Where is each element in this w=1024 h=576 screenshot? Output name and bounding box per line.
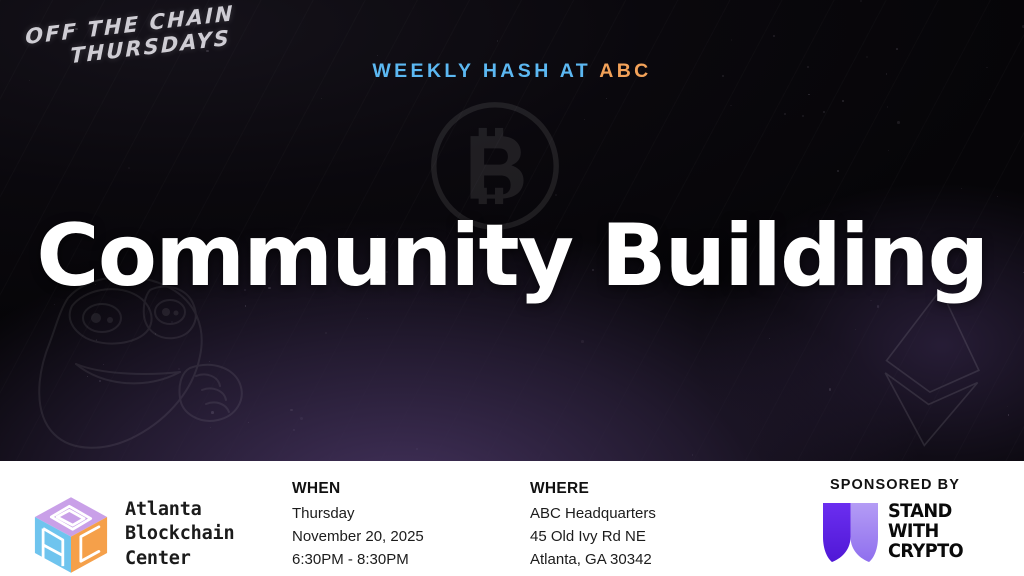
footer-bar: Atlanta Blockchain Center WHEN Thursday …	[0, 461, 1024, 576]
when-heading: WHEN	[292, 480, 424, 498]
sponsor-name: STAND WITH CRYPTO	[888, 502, 963, 561]
series-eyebrow: WEEKLY HASH AT ABC	[0, 60, 1024, 83]
when-block: WHEN Thursday November 20, 2025 6:30PM -…	[292, 480, 424, 576]
brand-name: Atlanta Blockchain Center	[125, 498, 234, 570]
where-block: WHERE ABC Headquarters 45 Old Ivy Rd NE …	[530, 480, 656, 576]
sponsor-name-line-2: WITH	[888, 522, 963, 542]
sponsor-lockup: STAND WITH CRYPTO	[790, 501, 1000, 563]
when-line-3: 6:30PM - 8:30PM	[292, 549, 424, 572]
event-poster: OFF THE CHAIN THURSDAYS WEEKLY HASH AT A…	[0, 0, 1024, 576]
where-line-2: 45 Old Ivy Rd NE	[530, 526, 656, 549]
sponsor-block: SPONSORED BY	[790, 477, 1000, 576]
when-line-1: Thursday	[292, 503, 424, 526]
brand-name-line-1: Atlanta	[125, 498, 234, 522]
where-line-1: ABC Headquarters	[530, 503, 656, 526]
eyebrow-accent-text: ABC	[599, 60, 651, 82]
sponsor-name-line-3: CRYPTO	[888, 542, 963, 562]
sponsor-name-line-1: STAND	[888, 502, 963, 522]
brand-lockup: Atlanta Blockchain Center	[30, 477, 234, 576]
badge-line-1: OFF THE CHAIN	[25, 2, 234, 50]
hero-section: OFF THE CHAIN THURSDAYS WEEKLY HASH AT A…	[0, 0, 1024, 461]
abc-cube-logo-icon	[30, 494, 112, 576]
brand-name-line-2: Blockchain	[125, 522, 234, 546]
stand-with-crypto-shield-icon	[822, 501, 879, 563]
brand-name-line-3: Center	[125, 547, 234, 571]
page-title: Community Building	[0, 213, 1024, 299]
when-line-2: November 20, 2025	[292, 526, 424, 549]
where-heading: WHERE	[530, 480, 656, 498]
eyebrow-main-text: WEEKLY HASH AT	[372, 60, 599, 82]
where-line-3: Atlanta, GA 30342	[530, 549, 656, 572]
sponsor-heading: SPONSORED BY	[790, 477, 1000, 493]
